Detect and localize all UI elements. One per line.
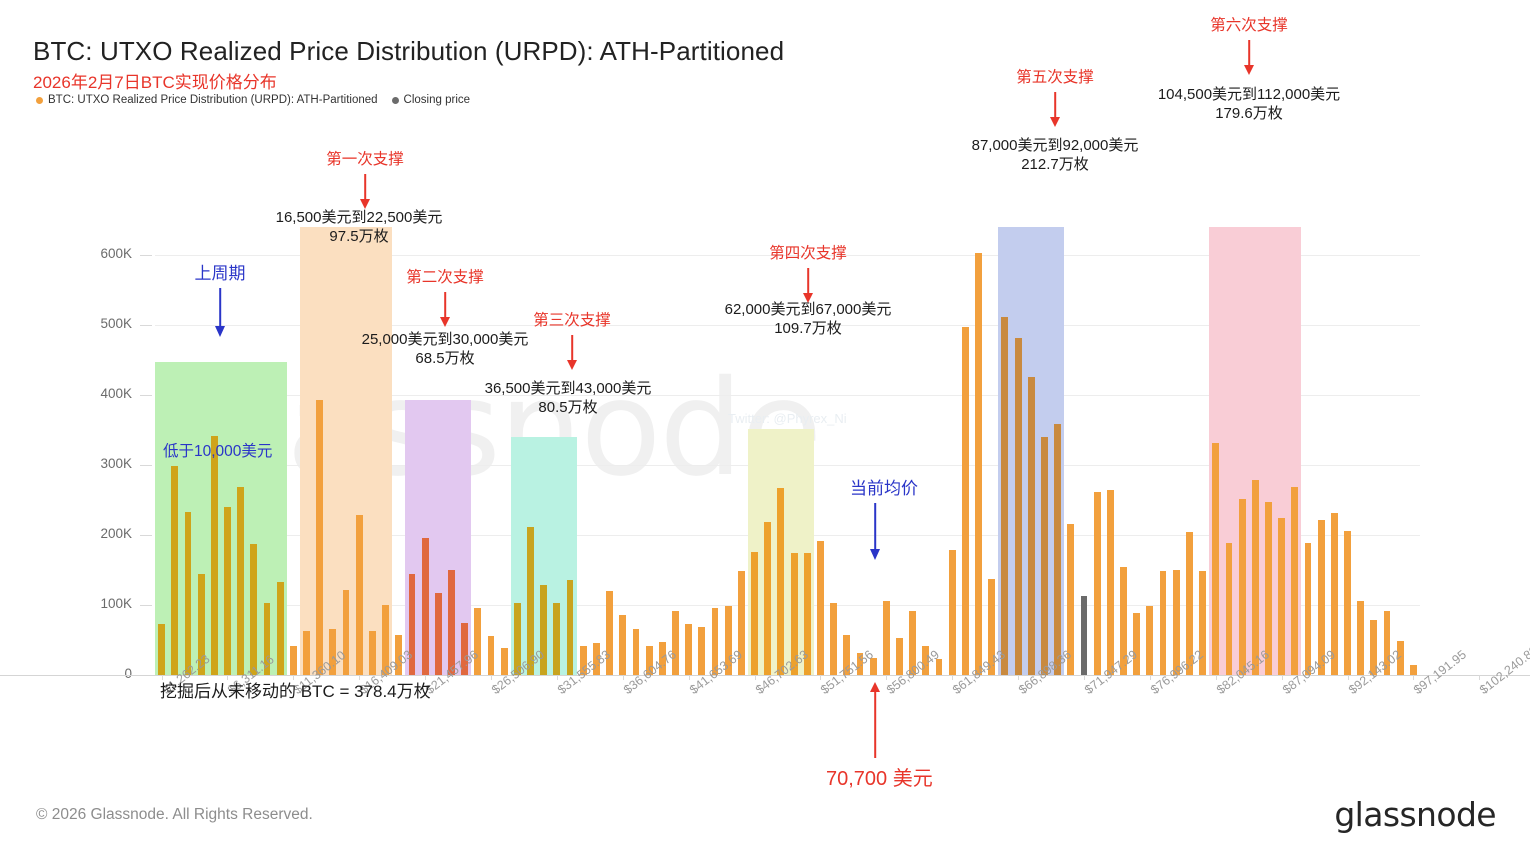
- annotation-support-4-range: 62,000美元到67,000美元: [697, 300, 919, 319]
- y-axis-tick-label: 100K: [76, 596, 132, 611]
- annotation-prev-cycle-arrow: [213, 288, 227, 338]
- y-axis-tick-mark: [140, 255, 152, 256]
- annotation-support-2-arrow: [438, 292, 452, 328]
- x-axis-tick-label: $102,240.89: [1477, 643, 1530, 697]
- annotation-support-2-range: 25,000美元到30,000美元: [334, 330, 556, 349]
- annotation-support-6-title: 第六次支撑: [1179, 13, 1319, 35]
- bar[interactable]: [830, 603, 837, 675]
- y-axis-tick-mark: [140, 535, 152, 536]
- bar[interactable]: [237, 487, 244, 675]
- y-axis-tick-label: 400K: [76, 386, 132, 401]
- annotation-support-6-range: 104,500美元到112,000美元: [1136, 85, 1362, 104]
- bar[interactable]: [567, 580, 574, 675]
- x-axis-tick-mark: [1084, 675, 1085, 680]
- bar[interactable]: [1252, 480, 1259, 675]
- annotation-support-5-body: 87,000美元到92,000美元 212.7万枚: [944, 136, 1166, 174]
- bar[interactable]: [448, 570, 455, 675]
- current-price-value: 70,700 美元: [826, 762, 933, 791]
- annotation-prev-cycle-label: 上周期: [180, 259, 260, 284]
- bar[interactable]: [619, 615, 626, 675]
- annotation-support-5-amount: 212.7万枚: [944, 155, 1166, 174]
- bar[interactable]: [1094, 492, 1101, 675]
- bar[interactable]: [633, 629, 640, 675]
- legend-label-closing-price: Closing price: [404, 94, 470, 106]
- y-axis-tick-mark: [140, 325, 152, 326]
- bar[interactable]: [303, 631, 310, 675]
- footer-copyright: © 2026 Glassnode. All Rights Reserved.: [36, 806, 313, 824]
- annotation-support-3-range: 36,500美元到43,000美元: [457, 379, 679, 398]
- bar[interactable]: [356, 515, 363, 675]
- y-axis-tick-mark: [140, 465, 152, 466]
- annotation-support-1-arrow: [358, 174, 372, 210]
- bar[interactable]: [553, 603, 560, 675]
- annotation-support-6-amount: 179.6万枚: [1136, 104, 1362, 123]
- annotation-support-4-title: 第四次支撑: [738, 241, 878, 263]
- annotation-support-5-arrow: [1048, 92, 1062, 128]
- legend-label-urpd: BTC: UTXO Realized Price Distribution (U…: [48, 94, 378, 106]
- bar[interactable]: [422, 538, 429, 675]
- x-axis-tick-mark: [623, 675, 624, 680]
- bar[interactable]: [316, 400, 323, 675]
- bar[interactable]: [1265, 502, 1272, 675]
- glassnode-logo: glassnode: [1334, 795, 1496, 834]
- bar[interactable]: [751, 552, 758, 675]
- chart-legend: BTC: UTXO Realized Price Distribution (U…: [36, 94, 470, 106]
- legend-dot-closing-price: [392, 97, 399, 104]
- x-axis-tick-label: $97,191.95: [1411, 647, 1469, 697]
- bar[interactable]: [883, 601, 890, 675]
- legend-dot-urpd: [36, 97, 43, 104]
- x-axis-tick-mark: [1479, 675, 1480, 680]
- bar[interactable]: [1160, 571, 1167, 675]
- annotation-support-2-title: 第二次支撑: [375, 265, 515, 287]
- annotation-support-4-arrow: [801, 268, 815, 304]
- bar[interactable]: [290, 646, 297, 675]
- x-axis-tick-mark: [820, 675, 821, 680]
- current-price-pointer-arrow: [868, 682, 882, 752]
- bar[interactable]: [764, 522, 771, 675]
- bar[interactable]: [949, 550, 956, 675]
- bar[interactable]: [1041, 437, 1048, 675]
- bar[interactable]: [185, 512, 192, 675]
- bar[interactable]: [698, 627, 705, 675]
- plot-area: [155, 227, 1420, 675]
- annotation-support-3-amount: 80.5万枚: [457, 398, 679, 417]
- annotation-support-3-arrow: [565, 335, 579, 371]
- annotation-support-6-arrow: [1242, 40, 1256, 76]
- bar[interactable]: [224, 507, 231, 675]
- bar[interactable]: [1001, 317, 1008, 675]
- never-moved-note: 挖掘后从未移动的 BTC = 378.4万枚: [160, 677, 431, 702]
- bar[interactable]: [435, 593, 442, 675]
- annotation-support-4-body: 62,000美元到67,000美元 109.7万枚: [697, 300, 919, 338]
- bar[interactable]: [817, 541, 824, 675]
- bar[interactable]: [1015, 338, 1022, 675]
- annotation-support-5-title: 第五次支撑: [985, 65, 1125, 87]
- y-axis-tick-label: 500K: [76, 316, 132, 331]
- bar[interactable]: [488, 636, 495, 675]
- bar[interactable]: [896, 638, 903, 675]
- annotation-support-1-body: 16,500美元到22,500美元 97.5万枚: [248, 208, 470, 246]
- y-axis-tick-label: 200K: [76, 526, 132, 541]
- bar[interactable]: [474, 608, 481, 675]
- bar[interactable]: [1054, 424, 1061, 675]
- x-axis-tick-mark: [689, 675, 690, 680]
- x-axis-tick-mark: [1150, 675, 1151, 680]
- annotation-current-price-arrow: [868, 503, 882, 563]
- bar[interactable]: [1028, 377, 1035, 675]
- annotation-support-5-range: 87,000美元到92,000美元: [944, 136, 1166, 155]
- bar[interactable]: [1226, 543, 1233, 675]
- annotation-support-3-title: 第三次支撑: [502, 308, 642, 330]
- x-axis-tick-mark: [1348, 675, 1349, 680]
- bar[interactable]: [250, 544, 257, 675]
- annotation-support-1-range: 16,500美元到22,500美元: [248, 208, 470, 227]
- annotation-support-3-body: 36,500美元到43,000美元 80.5万枚: [457, 379, 679, 417]
- bar[interactable]: [1344, 531, 1351, 675]
- x-axis-tick-mark: [1413, 675, 1414, 680]
- y-axis-tick-label: 300K: [76, 456, 132, 471]
- bar[interactable]: [277, 582, 284, 675]
- annotation-current-price-label: 当前均价: [838, 474, 930, 499]
- bar[interactable]: [1146, 606, 1153, 675]
- annotation-support-4-amount: 109.7万枚: [697, 319, 919, 338]
- bar[interactable]: [685, 624, 692, 675]
- x-axis-tick-mark: [491, 675, 492, 680]
- bar[interactable]: [1278, 518, 1285, 675]
- bar[interactable]: [1291, 487, 1298, 675]
- annotation-support-1-amount: 97.5万枚: [248, 227, 470, 246]
- bar[interactable]: [171, 466, 178, 675]
- bar[interactable]: [1239, 499, 1246, 675]
- legend-item-closing-price[interactable]: Closing price: [392, 94, 470, 106]
- annotation-below-10k-label: 低于10,000美元: [163, 439, 272, 461]
- y-axis-tick-mark: [140, 605, 152, 606]
- bar[interactable]: [369, 631, 376, 675]
- y-axis-tick-label: 0: [76, 666, 132, 681]
- chart-page: BTC: UTXO Realized Price Distribution (U…: [0, 0, 1530, 865]
- y-axis-tick-mark: [140, 395, 152, 396]
- x-axis-tick-mark: [952, 675, 953, 680]
- bar[interactable]: [158, 624, 165, 675]
- x-axis-tick-mark: [1018, 675, 1019, 680]
- chart-subtitle: 2026年2月7日BTC实现价格分布: [33, 68, 277, 93]
- y-axis-tick-label: 600K: [76, 246, 132, 261]
- x-axis-tick-mark: [1282, 675, 1283, 680]
- x-axis-tick-mark: [886, 675, 887, 680]
- closing-price-bar[interactable]: [1081, 596, 1088, 675]
- bar[interactable]: [975, 253, 982, 675]
- x-axis-tick-mark: [1216, 675, 1217, 680]
- bar[interactable]: [1305, 543, 1312, 675]
- bar[interactable]: [1133, 613, 1140, 675]
- page-title: BTC: UTXO Realized Price Distribution (U…: [33, 36, 784, 67]
- bar[interactable]: [1410, 665, 1417, 675]
- annotation-support-1-title: 第一次支撑: [295, 147, 435, 169]
- annotation-support-2-body: 25,000美元到30,000美元 68.5万枚: [334, 330, 556, 368]
- bar[interactable]: [672, 611, 679, 675]
- bar[interactable]: [962, 327, 969, 675]
- bar[interactable]: [1173, 570, 1180, 675]
- x-axis-tick-mark: [755, 675, 756, 680]
- legend-item-urpd[interactable]: BTC: UTXO Realized Price Distribution (U…: [36, 94, 378, 106]
- bar[interactable]: [1212, 443, 1219, 675]
- bar[interactable]: [1357, 601, 1364, 675]
- annotation-support-2-amount: 68.5万枚: [334, 349, 556, 368]
- annotation-support-6-body: 104,500美元到112,000美元 179.6万枚: [1136, 85, 1362, 123]
- bar[interactable]: [777, 488, 784, 675]
- x-axis-tick-mark: [557, 675, 558, 680]
- bar[interactable]: [1107, 490, 1114, 676]
- bar[interactable]: [211, 436, 218, 675]
